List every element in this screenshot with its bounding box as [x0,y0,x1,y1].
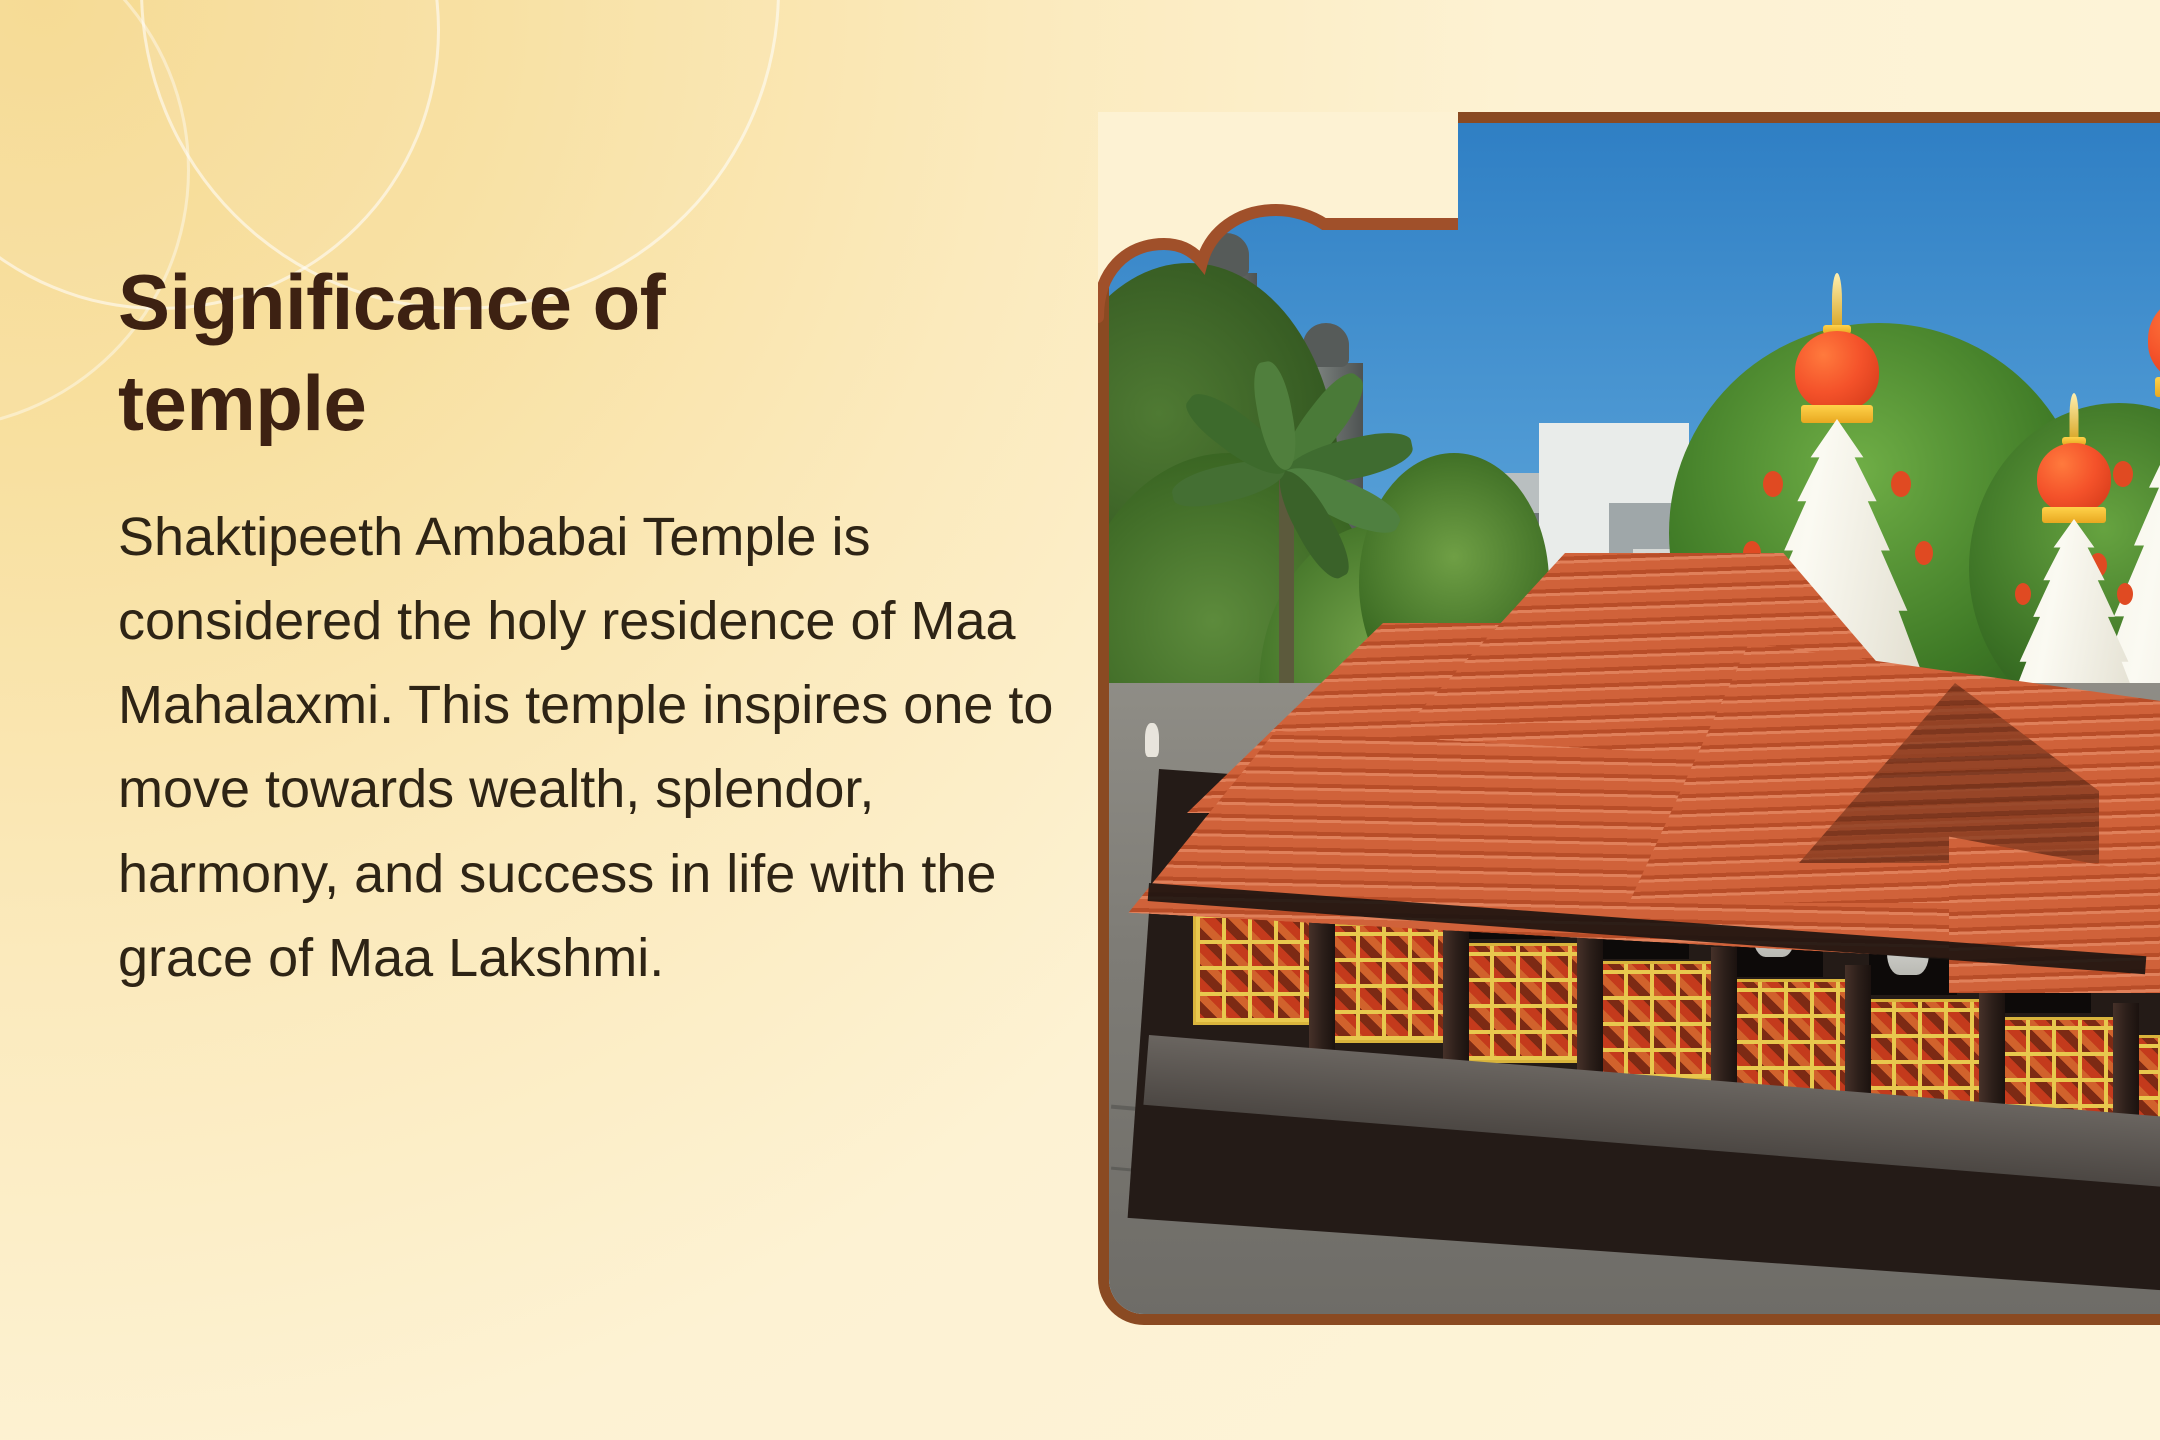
person [1145,723,1159,757]
shikhara-dome [2148,295,2160,383]
shikhara-dome [2037,443,2111,513]
temple-photo [1109,123,2160,1314]
body-paragraph: Shaktipeeth Ambabai Temple is considered… [118,495,1078,1000]
temple-shikhara [1989,393,2159,723]
shikhara-knob [1915,541,1933,565]
shikhara-knob [2015,583,2031,605]
shikhara-finial [2070,393,2079,439]
text-column: Significance of temple Shaktipeeth Ambab… [118,252,1078,1000]
shikhara-knob [1763,471,1783,497]
lattice-panel [1595,961,1715,1081]
shikhara-knob [2117,583,2133,605]
lattice-panel [1461,943,1581,1063]
page-title: Significance of temple [118,252,818,455]
lattice-panel [1327,923,1447,1043]
temple-photo-frame [1098,112,2160,1325]
lattice-panel [1729,979,1849,1099]
shikhara-knob [1891,471,1911,497]
shikhara-finial [1832,273,1842,327]
photo-scene [1109,123,2160,1314]
shikhara-dome [1795,331,1879,411]
lattice-panel [1193,905,1313,1025]
